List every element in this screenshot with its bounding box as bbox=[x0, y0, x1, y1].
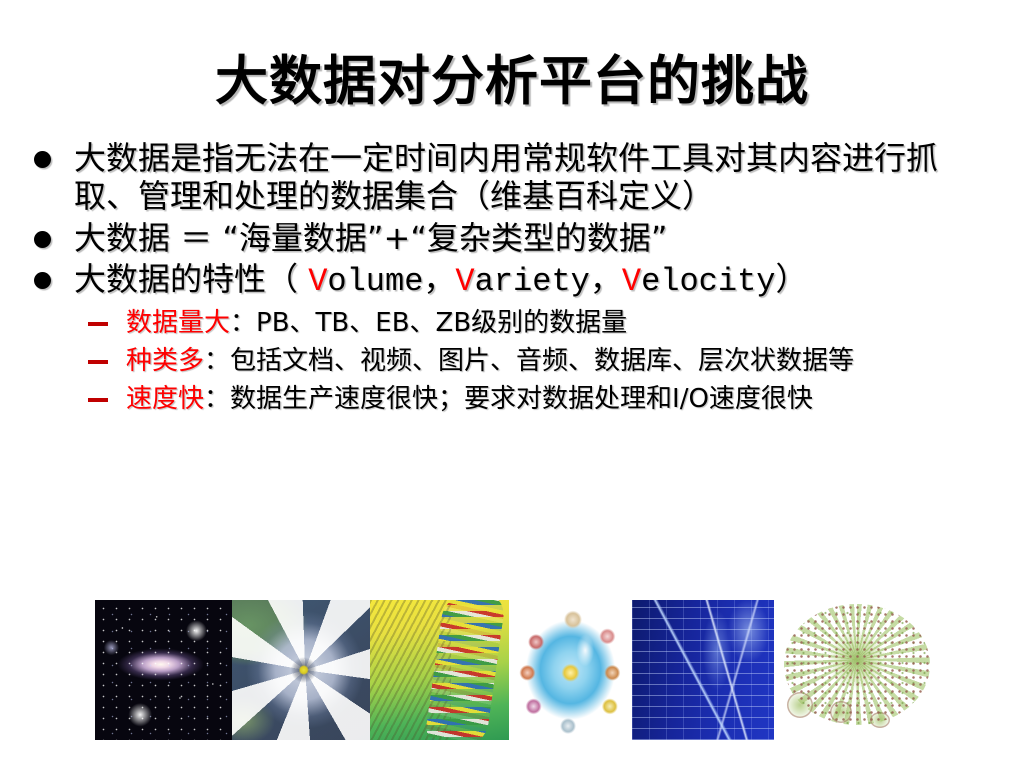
velocity-rest: elocity） bbox=[641, 263, 807, 300]
sub-list-item: 数据量大：PB、TB、EB、ZB级别的数据量 bbox=[30, 307, 998, 339]
velocity-initial: V bbox=[622, 263, 641, 300]
hurricane-photo bbox=[232, 600, 370, 740]
image-strip bbox=[95, 600, 940, 740]
galaxy-photo bbox=[95, 600, 232, 740]
network-satellite-cluster bbox=[870, 712, 890, 728]
variety-initial: V bbox=[455, 263, 474, 300]
sub-list-item-separator: ： bbox=[204, 346, 230, 376]
sub-list-item: 速度快：数据生产速度很快；要求对数据处理和I/O速度很快 bbox=[30, 383, 998, 415]
slide-canvas: 大数据对分析平台的挑战 大数据是指无法在一定时间内用常规软件工具对其内容进行抓取… bbox=[0, 0, 1024, 768]
sub-list-item-separator: ： bbox=[230, 308, 256, 338]
network-satellite-cluster bbox=[830, 701, 852, 723]
sub-list-item-separator: ： bbox=[204, 384, 230, 414]
volume-rest: olume， bbox=[327, 263, 455, 300]
sub-list-item-body: PB、TB、EB、ZB级别的数据量 bbox=[256, 308, 627, 338]
human-body-medical-diagram bbox=[509, 600, 632, 740]
sub-list-item-body: 数据生产速度很快；要求对数据处理和I/O速度很快 bbox=[230, 384, 813, 414]
bullet-dash-icon bbox=[88, 360, 108, 364]
stock-chart-photo bbox=[632, 600, 774, 740]
sub-list-item-label: 数据量大 bbox=[126, 308, 230, 338]
bullet-dot-icon bbox=[34, 151, 51, 168]
bullet-dash-icon bbox=[88, 398, 108, 402]
sub-list-item: 种类多：包括文档、视频、图片、音频、数据库、层次状数据等 bbox=[30, 345, 998, 377]
variety-rest: ariety， bbox=[475, 263, 622, 300]
sub-list-item-label: 种类多 bbox=[126, 346, 204, 376]
volume-initial: V bbox=[308, 263, 327, 300]
bullet-list: 大数据是指无法在一定时间内用常规软件工具对其内容进行抓取、管理和处理的数据集合（… bbox=[30, 140, 998, 419]
list-item-label: 大数据 ＝ “海量数据”+“复杂类型的数据” bbox=[74, 219, 667, 257]
network-graph-photo bbox=[774, 600, 940, 740]
bullet-dot-icon bbox=[34, 231, 51, 248]
sub-list-item-body: 包括文档、视频、图片、音频、数据库、层次状数据等 bbox=[230, 346, 854, 376]
dna-sequence-photo bbox=[370, 600, 509, 740]
bullet-dot-icon bbox=[34, 272, 51, 289]
bullet-dash-icon bbox=[88, 322, 108, 326]
list-item-label: 大数据是指无法在一定时间内用常规软件工具对其内容进行抓取、管理和处理的数据集合（… bbox=[74, 139, 938, 215]
list-item-label: 大数据的特性（ bbox=[74, 260, 308, 298]
sub-list-item-label: 速度快 bbox=[126, 384, 204, 414]
page-title: 大数据对分析平台的挑战 bbox=[0, 52, 1024, 111]
list-item: 大数据是指无法在一定时间内用常规软件工具对其内容进行抓取、管理和处理的数据集合（… bbox=[30, 140, 998, 216]
list-item: 大数据的特性（ Volume，Variety，Velocity） bbox=[30, 261, 998, 301]
network-satellite-cluster bbox=[787, 692, 813, 718]
list-item: 大数据 ＝ “海量数据”+“复杂类型的数据” bbox=[30, 220, 998, 258]
